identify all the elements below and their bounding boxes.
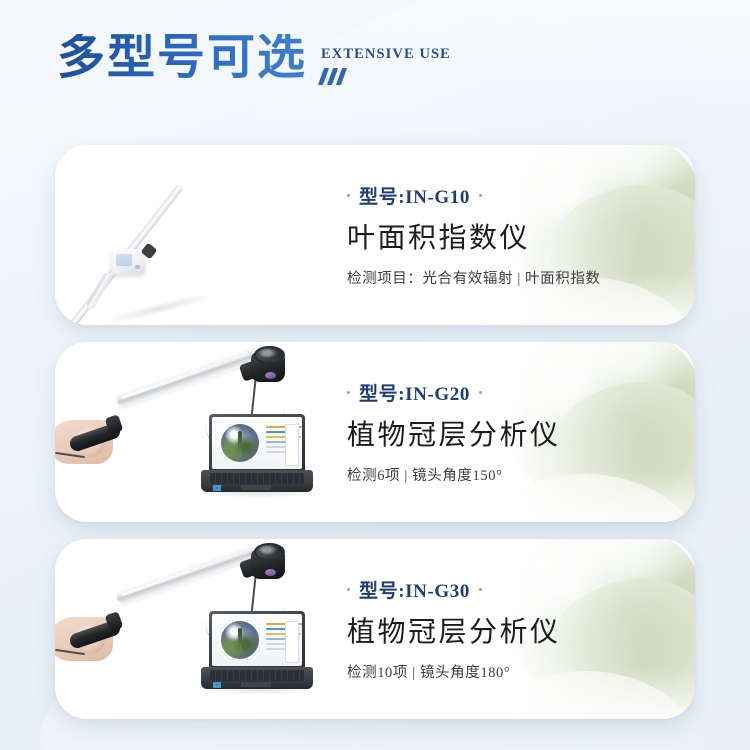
product-name: 植物冠层分析仪 (347, 419, 561, 453)
laptop-image (201, 414, 313, 492)
product-name: 植物冠层分析仪 (347, 616, 561, 650)
fisheye-lens-icon (254, 543, 285, 561)
model-line: 型号:IN-G10 (347, 182, 601, 209)
product-card-in-g10[interactable]: 型号:IN-G10 叶面积指数仪 检测项目：光合有效辐射 | 叶面积指数 (55, 145, 695, 325)
windows-logo-icon (213, 682, 221, 688)
header-subtitle: EXTENSIVE USE (321, 46, 451, 63)
product-name: 叶面积指数仪 (347, 222, 601, 256)
model-label: 型号:IN-G20 (359, 379, 470, 406)
dot-right-icon (479, 391, 482, 394)
model-label: 型号:IN-G30 (359, 576, 470, 603)
dot-left-icon (347, 194, 350, 197)
model-line: 型号:IN-G20 (347, 379, 561, 406)
dot-right-icon (479, 588, 482, 591)
product-description: 检测项目：光合有效辐射 | 叶面积指数 (347, 267, 601, 288)
product-image-canopy-analyzer (55, 539, 335, 719)
canopy-photo-thumbnail (221, 621, 259, 659)
product-info: 型号:IN-G10 叶面积指数仪 检测项目：光合有效辐射 | 叶面积指数 (335, 182, 601, 289)
fisheye-lens-icon (254, 346, 285, 364)
model-label: 型号:IN-G10 (359, 182, 470, 209)
laptop-image (201, 611, 313, 689)
dot-right-icon (479, 194, 482, 197)
windows-logo-icon (213, 485, 221, 491)
page-title: 多型号可选 (57, 34, 307, 82)
header-subtitle-group: EXTENSIVE USE (321, 34, 451, 85)
product-description: 检测10项 | 镜头角度180° (347, 661, 561, 682)
product-image-canopy-analyzer (55, 342, 335, 522)
product-card-in-g20[interactable]: 型号:IN-G20 植物冠层分析仪 检测6项 | 镜头角度150° (55, 342, 695, 522)
dot-left-icon (347, 391, 350, 394)
dot-left-icon (347, 588, 350, 591)
model-line: 型号:IN-G30 (347, 576, 561, 603)
slash-decoration-icon (321, 68, 451, 85)
product-card-in-g30[interactable]: 型号:IN-G30 植物冠层分析仪 检测10项 | 镜头角度180° (55, 539, 695, 719)
product-info: 型号:IN-G20 植物冠层分析仪 检测6项 | 镜头角度150° (335, 379, 561, 486)
page-header: 多型号可选 EXTENSIVE USE (57, 34, 451, 85)
product-info: 型号:IN-G30 植物冠层分析仪 检测10项 | 镜头角度180° (335, 576, 561, 683)
product-showcase-page: 多型号可选 EXTENSIVE USE (0, 0, 750, 750)
canopy-photo-thumbnail (221, 424, 259, 462)
product-description: 检测6项 | 镜头角度150° (347, 464, 561, 485)
product-image-leaf-area-index-wand (55, 145, 335, 325)
